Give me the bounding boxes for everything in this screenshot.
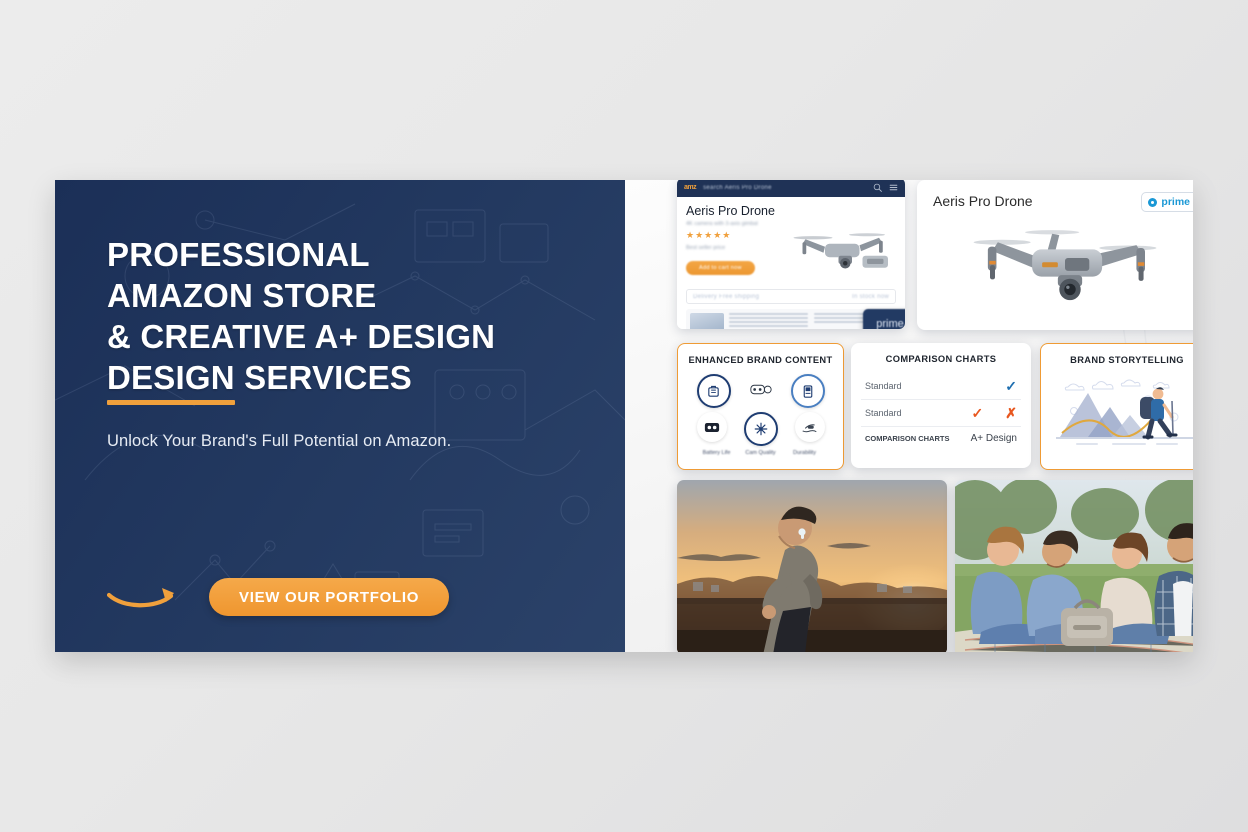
mockup-drone-image: [783, 221, 903, 283]
table-row: COMPARISON CHARTS A+ Design: [861, 427, 1021, 450]
table-row: Standard ✓ ✗: [861, 400, 1021, 427]
cross-orange-icon: ✗: [1005, 406, 1017, 420]
headline-block: PROFESSIONAL AMAZON STORE & CREATIVE A+ …: [107, 234, 607, 451]
feature-card-enhanced-brand-content[interactable]: ENHANCED BRAND CONTENT: [677, 343, 844, 470]
memory-card-icon[interactable]: [697, 412, 727, 442]
brand-storytelling-title: BRAND STORYTELLING: [1041, 355, 1193, 365]
prime-badge: prime: [1141, 192, 1193, 212]
headline-underlined-word: DESIGN: [107, 357, 235, 398]
banner-left-panel: PROFESSIONAL AMAZON STORE & CREATIVE A+ …: [55, 180, 625, 652]
check-blue-icon: ✓: [1005, 379, 1017, 393]
prime-label: prime: [1161, 196, 1190, 208]
comparison-row-2-value: A+ Design: [971, 433, 1017, 444]
hamburger-menu-icon[interactable]: [889, 183, 898, 192]
mockup-meta-left: Delivery Free shipping: [693, 294, 759, 300]
banner-right-panel: amz search Aeris Pro Drone Aeris Pro Dro…: [625, 180, 1193, 652]
comparison-chart-table: Standard ✓ Standard ✓ ✗ COMPARISON CHART…: [861, 373, 1021, 450]
mockup-meta-right: In stock now: [852, 294, 889, 300]
mockup-navbar: amz search Aeris Pro Drone: [677, 180, 905, 197]
comparison-row-0-label: Standard: [865, 381, 902, 391]
page-title: PROFESSIONAL AMAZON STORE & CREATIVE A+ …: [107, 234, 607, 398]
headline-line-1: PROFESSIONAL: [107, 234, 607, 275]
promo-banner: PROFESSIONAL AMAZON STORE & CREATIVE A+ …: [55, 180, 1193, 652]
mockup-search-placeholder: search Aeris Pro Drone: [703, 185, 866, 191]
ebc-label-0: Battery Life: [696, 450, 738, 456]
photo-runner[interactable]: [677, 480, 947, 652]
ebc-label-1: Cam Quality: [740, 450, 782, 456]
check-orange-icon: ✓: [972, 406, 984, 420]
cta-row: VIEW OUR PORTFOLIO: [107, 578, 449, 616]
mockup-aplus-thumbnail: [690, 313, 724, 329]
drone-hand-icon[interactable]: [795, 412, 825, 442]
product-hero-card[interactable]: Aeris Pro Drone prime: [917, 180, 1193, 330]
headline-line-3: & CREATIVE A+ DESIGN: [107, 316, 607, 357]
hiker-figure: [1140, 387, 1176, 437]
product-drone-image: [955, 218, 1175, 318]
comparison-row-0-marks: ✓: [1005, 379, 1017, 393]
icon-row-bottom: [697, 412, 825, 446]
comparison-row-2-label: COMPARISON CHARTS: [865, 434, 949, 443]
mockup-product-body: Aeris Pro Drone 4K camera with 3-axis gi…: [677, 197, 905, 329]
view-portfolio-button[interactable]: VIEW OUR PORTFOLIO: [209, 578, 449, 616]
prime-dot-icon: [1148, 198, 1157, 207]
enhanced-brand-content-title: ENHANCED BRAND CONTENT: [678, 355, 843, 365]
amazon-smile-icon: [107, 584, 179, 610]
camera-bag-icon[interactable]: [697, 374, 731, 408]
subheadline: Unlock Your Brand's Full Potential on Am…: [107, 432, 607, 451]
mockup-add-to-cart-button[interactable]: Add to cart now: [686, 261, 755, 275]
remote-control-icon[interactable]: [746, 374, 776, 404]
hiker-illustration: [1052, 371, 1193, 453]
product-title: Aeris Pro Drone: [933, 193, 1033, 209]
search-icon[interactable]: [873, 183, 882, 192]
comparison-charts-title: COMPARISON CHARTS: [851, 354, 1031, 364]
feature-card-comparison-charts[interactable]: COMPARISON CHARTS Standard ✓ Standard ✓ …: [851, 343, 1031, 468]
amazon-listing-mockup[interactable]: amz search Aeris Pro Drone Aeris Pro Dro…: [677, 180, 905, 329]
mockup-product-title: Aeris Pro Drone: [686, 204, 896, 218]
comparison-row-1-marks: ✓ ✗: [972, 406, 1017, 420]
feature-card-brand-storytelling[interactable]: BRAND STORYTELLING: [1040, 343, 1193, 470]
icon-row-top: [697, 374, 825, 408]
enhanced-brand-content-icon-grid: [697, 374, 825, 446]
photo-friends[interactable]: [955, 480, 1193, 652]
propeller-icon[interactable]: [744, 412, 778, 446]
headline-line-4: DESIGN SERVICES: [107, 357, 607, 398]
table-row: Standard ✓: [861, 373, 1021, 400]
headline-line-2: AMAZON STORE: [107, 275, 607, 316]
comparison-row-1-label: Standard: [865, 408, 902, 418]
battery-pack-icon[interactable]: [791, 374, 825, 408]
mockup-prime-badge: prime: [863, 309, 905, 329]
ebc-label-2: Durability: [784, 450, 826, 456]
amazon-logo: amz: [684, 184, 696, 191]
mockup-delivery-meta: Delivery Free shipping In stock now: [686, 289, 896, 304]
headline-line-4-rest: SERVICES: [235, 359, 412, 396]
enhanced-brand-content-labels: Battery Life Cam Quality Durability: [696, 450, 826, 456]
